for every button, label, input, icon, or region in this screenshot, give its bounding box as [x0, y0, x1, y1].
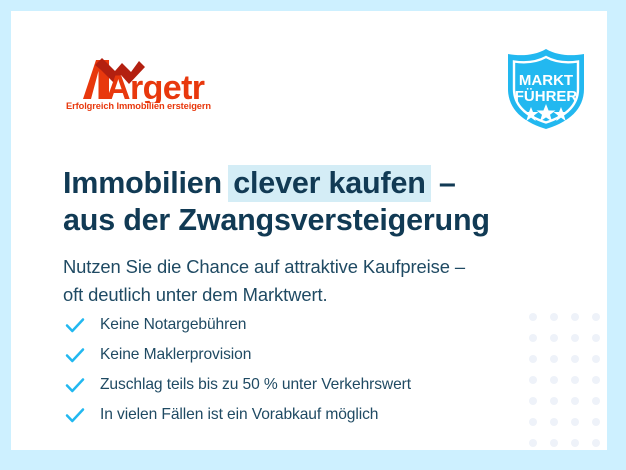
banner-card: Argetra Erfolgreich Immobilien ersteiger… — [11, 11, 607, 450]
list-item-label: In vielen Fällen ist ein Vorabkauf mögli… — [100, 406, 378, 424]
decorative-dot — [592, 355, 600, 363]
list-item: Zuschlag teils bis zu 50 % unter Verkehr… — [64, 370, 494, 400]
decorative-dot — [529, 439, 537, 447]
decorative-dot — [550, 397, 558, 405]
headline-text-after: – — [431, 166, 456, 200]
badge-line2: FÜHRER — [515, 88, 578, 105]
subheadline-line-2: oft deutlich unter dem Marktwert. — [63, 281, 553, 309]
decorative-dot — [571, 334, 579, 342]
decorative-dot — [529, 355, 537, 363]
list-item: In vielen Fällen ist ein Vorabkauf mögli… — [64, 400, 494, 430]
decorative-dot — [550, 439, 558, 447]
markt-fuehrer-badge: MARKT FÜHRER — [500, 45, 592, 133]
decorative-dot — [592, 439, 600, 447]
decorative-dot — [529, 397, 537, 405]
list-item-label: Keine Notargebühren — [100, 316, 246, 334]
decorative-dot — [550, 376, 558, 384]
decorative-dot — [592, 418, 600, 426]
decorative-dot — [529, 313, 537, 321]
decorative-dot — [571, 439, 579, 447]
subheadline-line-1: Nutzen Sie die Chance auf attraktive Kau… — [63, 253, 553, 281]
decorative-dot — [550, 418, 558, 426]
benefits-list: Keine Notargebühren Keine Maklerprovisio… — [64, 310, 494, 430]
svg-text:Argetra: Argetra — [106, 69, 205, 103]
badge-line1: MARKT — [519, 72, 573, 89]
decorative-dot — [550, 313, 558, 321]
decorative-dot — [592, 397, 600, 405]
argetra-logo-mark-icon: Argetra — [65, 55, 205, 103]
dot-grid-decoration — [516, 301, 607, 450]
promo-banner: Argetra Erfolgreich Immobilien ersteiger… — [0, 0, 626, 470]
argetra-logo[interactable]: Argetra Erfolgreich Immobilien ersteiger… — [65, 55, 205, 117]
decorative-dot — [529, 376, 537, 384]
headline-line-1: Immobilien clever kaufen – — [63, 165, 533, 202]
subheadline: Nutzen Sie die Chance auf attraktive Kau… — [63, 253, 553, 309]
decorative-dot — [571, 418, 579, 426]
headline-text-before: Immobilien — [63, 166, 230, 200]
decorative-dot — [571, 355, 579, 363]
decorative-dot — [571, 397, 579, 405]
decorative-dot — [592, 313, 600, 321]
list-item-label: Zuschlag teils bis zu 50 % unter Verkehr… — [100, 376, 411, 394]
decorative-dot — [529, 418, 537, 426]
check-icon — [64, 344, 86, 366]
shield-badge-icon: MARKT FÜHRER — [500, 45, 592, 133]
decorative-dot — [550, 334, 558, 342]
check-icon — [64, 404, 86, 426]
headline-highlight: clever kaufen — [228, 165, 430, 202]
logo-tagline: Erfolgreich Immobilien ersteigern — [66, 101, 211, 111]
check-icon — [64, 374, 86, 396]
headline: Immobilien clever kaufen – aus der Zwang… — [63, 165, 533, 239]
list-item-label: Keine Maklerprovision — [100, 346, 251, 364]
decorative-dot — [571, 376, 579, 384]
list-item: Keine Maklerprovision — [64, 340, 494, 370]
decorative-dot — [571, 313, 579, 321]
decorative-dot — [592, 334, 600, 342]
check-icon — [64, 314, 86, 336]
headline-line-2: aus der Zwangsversteigerung — [63, 202, 533, 239]
list-item: Keine Notargebühren — [64, 310, 494, 340]
decorative-dot — [592, 376, 600, 384]
decorative-dot — [529, 334, 537, 342]
decorative-dot — [550, 355, 558, 363]
